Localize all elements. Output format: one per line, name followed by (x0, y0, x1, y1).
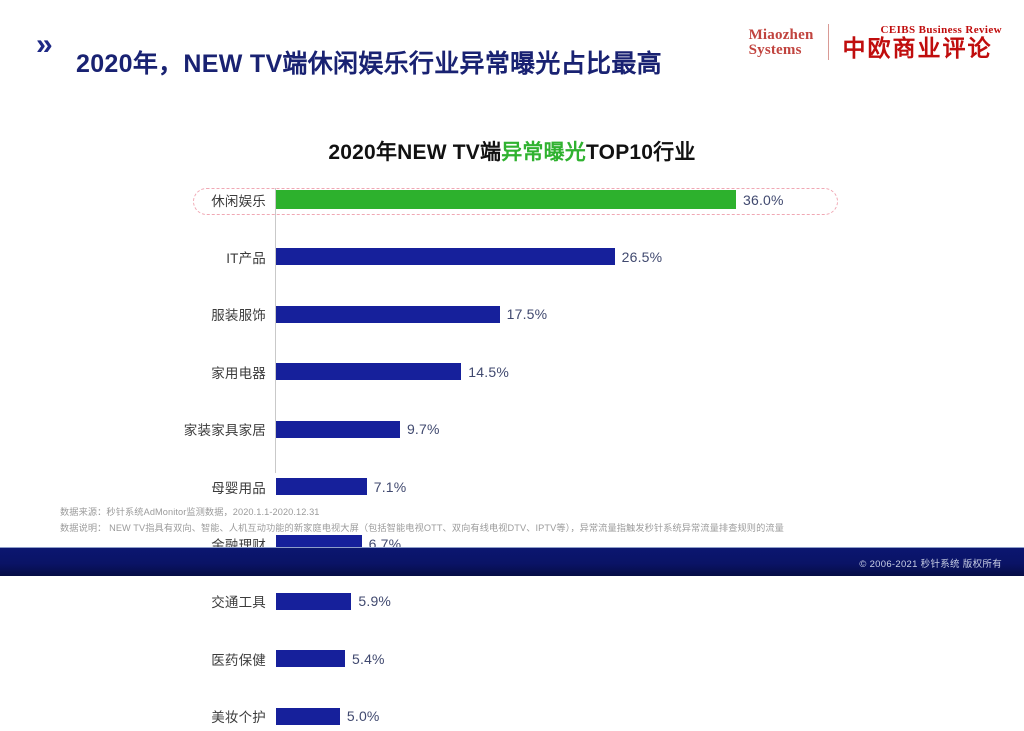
bar-row: 休闲娱乐36.0% (0, 185, 1024, 214)
bar-track: 5.0% (276, 702, 380, 731)
chart-title-part1: 2020年NEW TV端 (328, 141, 501, 164)
bar-row: 医药保健5.4% (0, 644, 1024, 673)
bottom-bar: © 2006-2021 秒针系统 版权所有 (0, 547, 1024, 576)
bar-row: 母婴用品7.1% (0, 472, 1024, 501)
bar-row: IT产品26.5% (0, 242, 1024, 271)
bar-track: 14.5% (276, 357, 509, 386)
miaozhen-logo-line1: Miaozhen (749, 28, 814, 43)
bar-category-label: 母婴用品 (120, 477, 266, 497)
bar-track: 36.0% (276, 185, 784, 214)
chart-title-part2: TOP10行业 (586, 141, 696, 164)
bar-value-label: 7.1% (374, 479, 407, 495)
double-chevron-right-icon: » (36, 30, 51, 60)
logo-group: Miaozhen Systems CEIBS Business Review 中… (749, 18, 1002, 66)
bar-track: 9.7% (276, 415, 440, 444)
bar-track: 5.9% (276, 587, 391, 616)
bar-category-label: 美妆个护 (120, 706, 266, 726)
bar-track: 5.4% (276, 644, 385, 673)
copyright-text: © 2006-2021 秒针系统 版权所有 (859, 556, 1002, 570)
bar-fill (276, 650, 345, 667)
bar-category-label: 医药保健 (120, 649, 266, 669)
bar-row: 交通工具5.9% (0, 587, 1024, 616)
bar-row: 服装服饰17.5% (0, 300, 1024, 329)
bar-row: 美妆个护5.0% (0, 702, 1024, 731)
bar-category-label: 家用电器 (120, 362, 266, 382)
bar-fill (276, 593, 351, 610)
bar-fill (276, 708, 340, 725)
bar-value-label: 26.5% (622, 249, 663, 265)
footnote-data-source: 数据来源：秒针系统AdMonitor监测数据，2020.1.1-2020.12.… (60, 505, 960, 521)
ceibs-business-review-logo: CEIBS Business Review 中欧商业评论 (829, 24, 1002, 60)
bar-value-label: 5.4% (352, 651, 385, 667)
bar-category-label: 服装服饰 (120, 304, 266, 324)
page-header: » 2020年，NEW TV端休闲娱乐行业异常曝光占比最高 Miaozhen S… (0, 0, 1024, 88)
miaozhen-logo-line2: Systems (749, 43, 814, 58)
bar-fill (276, 248, 615, 265)
bar-value-label: 17.5% (507, 306, 548, 322)
bar-value-label: 14.5% (468, 364, 509, 380)
footnotes: 数据来源：秒针系统AdMonitor监测数据，2020.1.1-2020.12.… (60, 505, 960, 537)
bar-fill (276, 421, 400, 438)
bar-value-label: 36.0% (743, 192, 784, 208)
ceibs-logo-english: CEIBS Business Review (881, 24, 1002, 36)
bar-chart: 休闲娱乐36.0%IT产品26.5%服装服饰17.5%家用电器14.5%家装家具… (0, 185, 1024, 485)
bar-category-label: 交通工具 (120, 591, 266, 611)
bar-fill (276, 363, 461, 380)
bar-fill (276, 306, 500, 323)
bar-fill (276, 478, 367, 495)
page-title: 2020年，NEW TV端休闲娱乐行业异常曝光占比最高 (76, 44, 662, 80)
bar-track: 7.1% (276, 472, 406, 501)
bar-category-label: 家装家具家居 (120, 419, 266, 439)
footnote-data-description: 数据说明： NEW TV指具有双向、智能、人机互动功能的新家庭电视大屏（包括智能… (60, 521, 960, 537)
bar-fill (276, 190, 736, 209)
bar-category-label: 休闲娱乐 (120, 190, 266, 210)
bar-track: 26.5% (276, 242, 662, 271)
miaozhen-systems-logo: Miaozhen Systems (749, 28, 828, 59)
chart-title-highlight: 异常曝光 (501, 141, 586, 164)
bar-category-label: IT产品 (120, 247, 266, 267)
bar-value-label: 5.9% (358, 593, 391, 609)
bar-value-label: 5.0% (347, 708, 380, 724)
bar-track: 17.5% (276, 300, 547, 329)
bar-value-label: 9.7% (407, 421, 440, 437)
ceibs-logo-chinese: 中欧商业评论 (843, 37, 1002, 60)
bar-row: 家装家具家居9.7% (0, 415, 1024, 444)
chart-title: 2020年NEW TV端异常曝光TOP10行业 (0, 136, 1024, 166)
bar-row: 家用电器14.5% (0, 357, 1024, 386)
